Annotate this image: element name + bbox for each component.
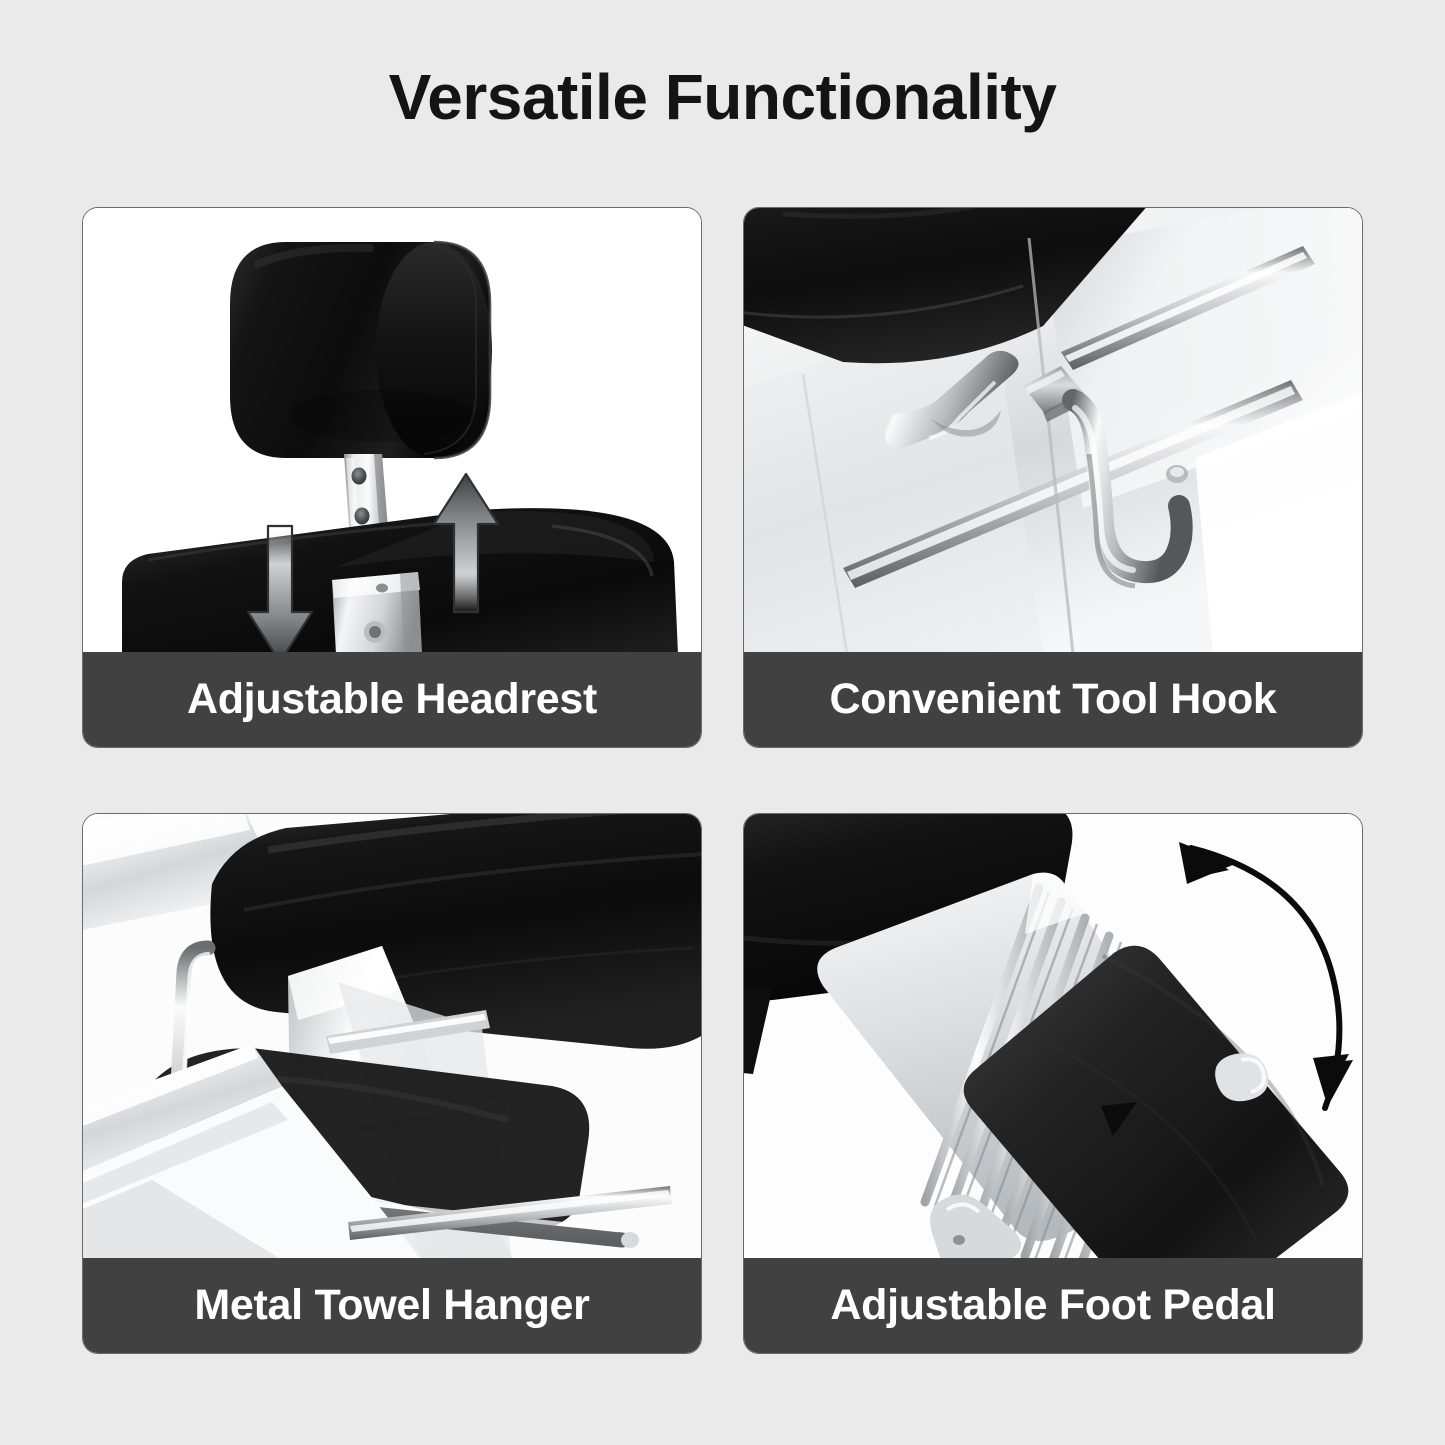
towel-hanger-photo bbox=[83, 814, 701, 1260]
feature-card-adjustable-foot-pedal[interactable]: Adjustable Foot Pedal bbox=[743, 813, 1363, 1354]
foot-pedal-photo bbox=[744, 814, 1362, 1260]
headrest-photo bbox=[83, 208, 701, 654]
feature-caption-label: Adjustable Foot Pedal bbox=[830, 1281, 1275, 1330]
feature-card-adjustable-headrest[interactable]: Adjustable Headrest bbox=[82, 207, 702, 748]
feature-caption-label: Metal Towel Hanger bbox=[194, 1281, 589, 1330]
page-title: Versatile Functionality bbox=[0, 63, 1445, 132]
feature-caption-bar-adjustable-foot-pedal: Adjustable Foot Pedal bbox=[744, 1258, 1362, 1353]
headrest-bracket bbox=[332, 572, 422, 654]
tool-hook-photo bbox=[744, 208, 1362, 654]
feature-grid: Adjustable Headrest bbox=[82, 207, 1363, 1354]
feature-caption-bar-metal-towel-hanger: Metal Towel Hanger bbox=[83, 1258, 701, 1353]
feature-caption-bar-adjustable-headrest: Adjustable Headrest bbox=[83, 652, 701, 747]
feature-card-convenient-tool-hook[interactable]: Convenient Tool Hook bbox=[743, 207, 1363, 748]
feature-caption-label: Adjustable Headrest bbox=[187, 675, 597, 724]
feature-caption-bar-convenient-tool-hook: Convenient Tool Hook bbox=[744, 652, 1362, 747]
feature-grid-page: Versatile Functionality bbox=[0, 0, 1445, 1445]
headrest-cushion bbox=[230, 242, 492, 458]
feature-card-metal-towel-hanger[interactable]: Metal Towel Hanger bbox=[82, 813, 702, 1354]
feature-caption-label: Convenient Tool Hook bbox=[829, 675, 1276, 724]
